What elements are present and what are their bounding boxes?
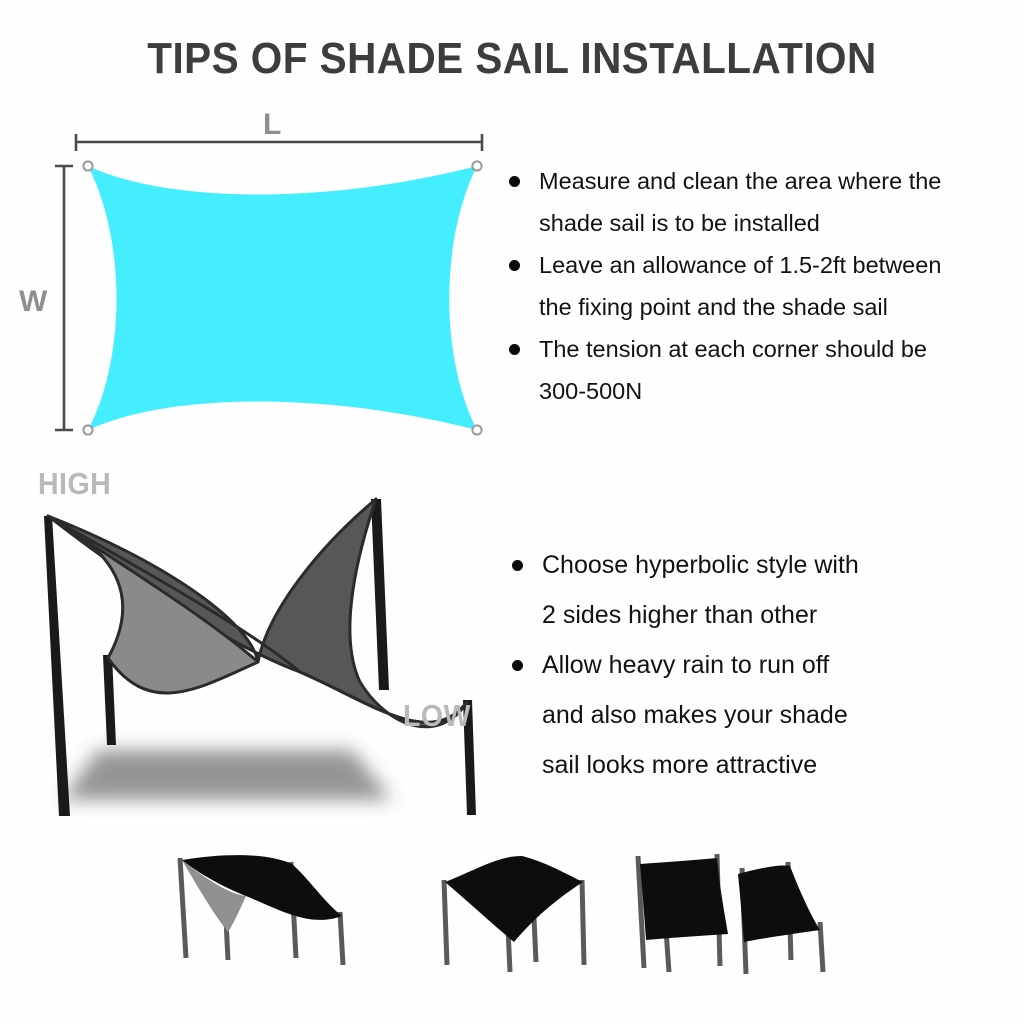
- infographic-page: TIPS OF SHADE SAIL INSTALLATION: [0, 0, 1024, 1024]
- list-item: Choose hyperbolic style with 2 sides hig…: [508, 540, 1008, 640]
- tip-line: the fixing point and the shade sail: [539, 286, 1024, 328]
- low-label: LOW: [403, 698, 471, 734]
- sail-light-panel: [48, 516, 258, 693]
- thumb2-sail: [445, 856, 583, 942]
- bullet-icon: [512, 560, 523, 571]
- thumb3-sail-right: [738, 865, 820, 942]
- width-dimension-line: [55, 166, 73, 430]
- width-label: W: [19, 285, 47, 319]
- thumb3-sail-left: [640, 858, 728, 940]
- bullet-icon: [509, 344, 520, 355]
- thumbnail-double-flat-sails: [620, 838, 860, 983]
- rectangular-sail-figure: L W: [0, 100, 500, 450]
- tip-line: Measure and clean the area where the: [539, 160, 1024, 202]
- hyperbolic-sail-figure: HIGH LOW: [0, 450, 510, 830]
- tip-line: The tension at each corner should be: [539, 328, 1024, 370]
- post-low-left: [103, 655, 116, 745]
- grommet-top-right: [472, 161, 481, 170]
- grommet-bottom-right: [472, 425, 481, 434]
- cyan-sail-shape: [88, 166, 477, 430]
- tip-line: 2 sides higher than other: [542, 590, 1008, 640]
- list-item: Leave an allowance of 1.5-2ft between th…: [505, 244, 1024, 328]
- tip-line: 300-500N: [539, 370, 1024, 412]
- thumbnail-peaked-sail: [430, 840, 630, 980]
- high-label: HIGH: [38, 466, 111, 502]
- tips-list-bottom: Choose hyperbolic style with 2 sides hig…: [508, 540, 1008, 790]
- tip-line: shade sail is to be installed: [539, 202, 1024, 244]
- tip-line: Allow heavy rain to run off: [542, 640, 1008, 690]
- ground-shadow: [62, 750, 392, 800]
- tip-line: and also makes your shade: [542, 690, 1008, 740]
- bullet-icon: [512, 660, 523, 671]
- bullet-icon: [509, 176, 520, 187]
- list-item: Measure and clean the area where the sha…: [505, 160, 1024, 244]
- tip-line: Choose hyperbolic style with: [542, 540, 1008, 590]
- tip-line: sail looks more attractive: [542, 740, 1008, 790]
- list-item: The tension at each corner should be 300…: [505, 328, 1024, 412]
- list-item: Allow heavy rain to run off and also mak…: [508, 640, 1008, 790]
- grommet-top-left: [83, 161, 92, 170]
- tips-list-top: Measure and clean the area where the sha…: [505, 160, 1024, 412]
- post-high-left: [44, 516, 70, 816]
- thumbnail-hypar-sail: [160, 840, 390, 980]
- page-title: TIPS OF SHADE SAIL INSTALLATION: [41, 34, 983, 84]
- tip-line: Leave an allowance of 1.5-2ft between: [539, 244, 1024, 286]
- post-high-back: [371, 499, 389, 690]
- bullet-icon: [509, 260, 520, 271]
- length-label: L: [263, 108, 281, 142]
- grommet-bottom-left: [83, 425, 92, 434]
